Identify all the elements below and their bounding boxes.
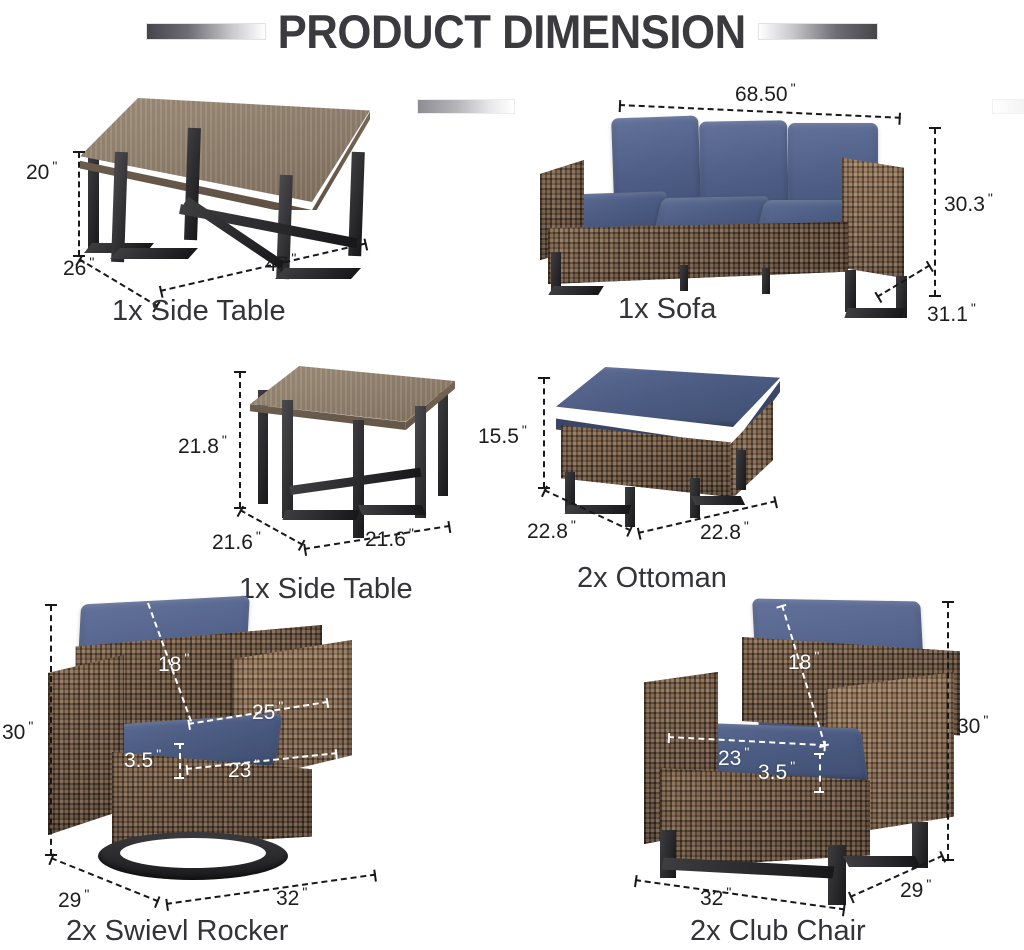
- swivel-width-label: 32": [276, 884, 307, 911]
- sofa-base: [548, 222, 848, 284]
- swivel-cushion-thickness-line: [179, 743, 181, 779]
- coffee-table-caption: 1x Side Table: [112, 295, 286, 328]
- club-cushion-thickness-line: [819, 753, 821, 793]
- swivel-seat-width-label: 23": [228, 756, 259, 783]
- club-depth-label: 29": [900, 876, 931, 903]
- sofa-leg-mid2: [762, 268, 770, 294]
- coffee-table-leg-front-left-inner: [184, 128, 201, 240]
- club-width-label: 32": [700, 884, 731, 911]
- club-height-line: [947, 602, 949, 860]
- end-table-caption: 1x Side Table: [239, 573, 413, 606]
- page-header: PRODUCT DIMENSION: [0, 0, 1024, 62]
- club-width-line: [635, 879, 845, 910]
- club-chair-caption: 2x Club Chair: [690, 915, 866, 948]
- ottoman-foot-right: [691, 496, 745, 505]
- end-table-leg-right-front: [415, 406, 426, 518]
- decorative-gradient-bar-middle-right: [992, 99, 1024, 114]
- ottoman-height-label: 15.5": [478, 422, 527, 449]
- swivel-depth-label: 29": [58, 886, 89, 913]
- ottoman-caption: 2x Ottoman: [577, 562, 727, 595]
- club-cushion-thickness-label: 3.5": [758, 758, 795, 785]
- decorative-gradient-bar-middle-left: [417, 99, 515, 114]
- end-table-depth-label: 21.6": [212, 528, 261, 555]
- coffee-table-depth-label: 26": [63, 254, 94, 281]
- end-table-foot-front-left: [282, 510, 359, 520]
- product-dimension-infographic: PRODUCT DIMENSION 20" 26": [0, 0, 1024, 950]
- swivel-height-line: [50, 605, 52, 855]
- ottoman-cushion: [556, 367, 780, 427]
- sofa-height-line: [934, 128, 936, 296]
- end-table-leg-rear-right: [438, 392, 448, 496]
- club-seat-width-label: 23": [718, 744, 749, 771]
- ottoman-height-line: [543, 378, 545, 488]
- title-gradient-bar-right: [758, 23, 878, 40]
- coffee-table-height-label: 20": [26, 158, 57, 185]
- end-table-foot-right: [358, 505, 426, 515]
- sofa-caption: 1x Sofa: [618, 293, 716, 326]
- ottoman-foot-left: [565, 505, 632, 514]
- swivel-base-inner: [120, 838, 266, 868]
- end-table-height-label: 21.8": [178, 432, 227, 459]
- coffee-table-foot-front-left: [110, 248, 198, 259]
- end-table-width-label: 21.6": [365, 525, 414, 552]
- end-table-leg-front-left: [282, 400, 293, 518]
- swivel-cushion-thickness-label: 3.5": [124, 746, 161, 773]
- swivel-height-label: 30": [2, 718, 33, 745]
- sofa-depth-label: 31.1": [927, 300, 976, 327]
- club-back-height-label: 18": [788, 648, 819, 675]
- title-gradient-bar-left: [146, 23, 266, 40]
- sofa-arm-right: [842, 150, 904, 278]
- sofa-height-label: 30.3": [944, 190, 993, 217]
- coffee-table-width-label: 47": [265, 250, 296, 277]
- sofa-width-label: 68.50": [735, 80, 796, 107]
- ottoman-leg-right: [736, 450, 746, 490]
- coffee-table-height-line: [78, 152, 80, 256]
- swivel-seat-depth-label: 25": [252, 698, 283, 725]
- club-height-label: 30": [957, 712, 988, 739]
- end-table-height-line: [239, 372, 241, 508]
- sofa-leg-right-outer: [845, 270, 856, 312]
- sofa-leg-mid: [680, 265, 688, 291]
- sofa-leg-right-foot: [844, 308, 905, 318]
- ottoman-width-label: 22.8": [700, 518, 749, 545]
- swivel-back-height-label: 18": [158, 650, 189, 677]
- swivel-rocker-caption: 2x Swievl Rocker: [66, 915, 288, 948]
- club-foot-rear-right: [843, 856, 921, 867]
- club-leg-front-left: [660, 830, 676, 878]
- sofa-leg-left-foot: [548, 286, 604, 295]
- page-title: PRODUCT DIMENSION: [278, 8, 746, 55]
- ottoman-depth-label: 22.8": [527, 517, 576, 544]
